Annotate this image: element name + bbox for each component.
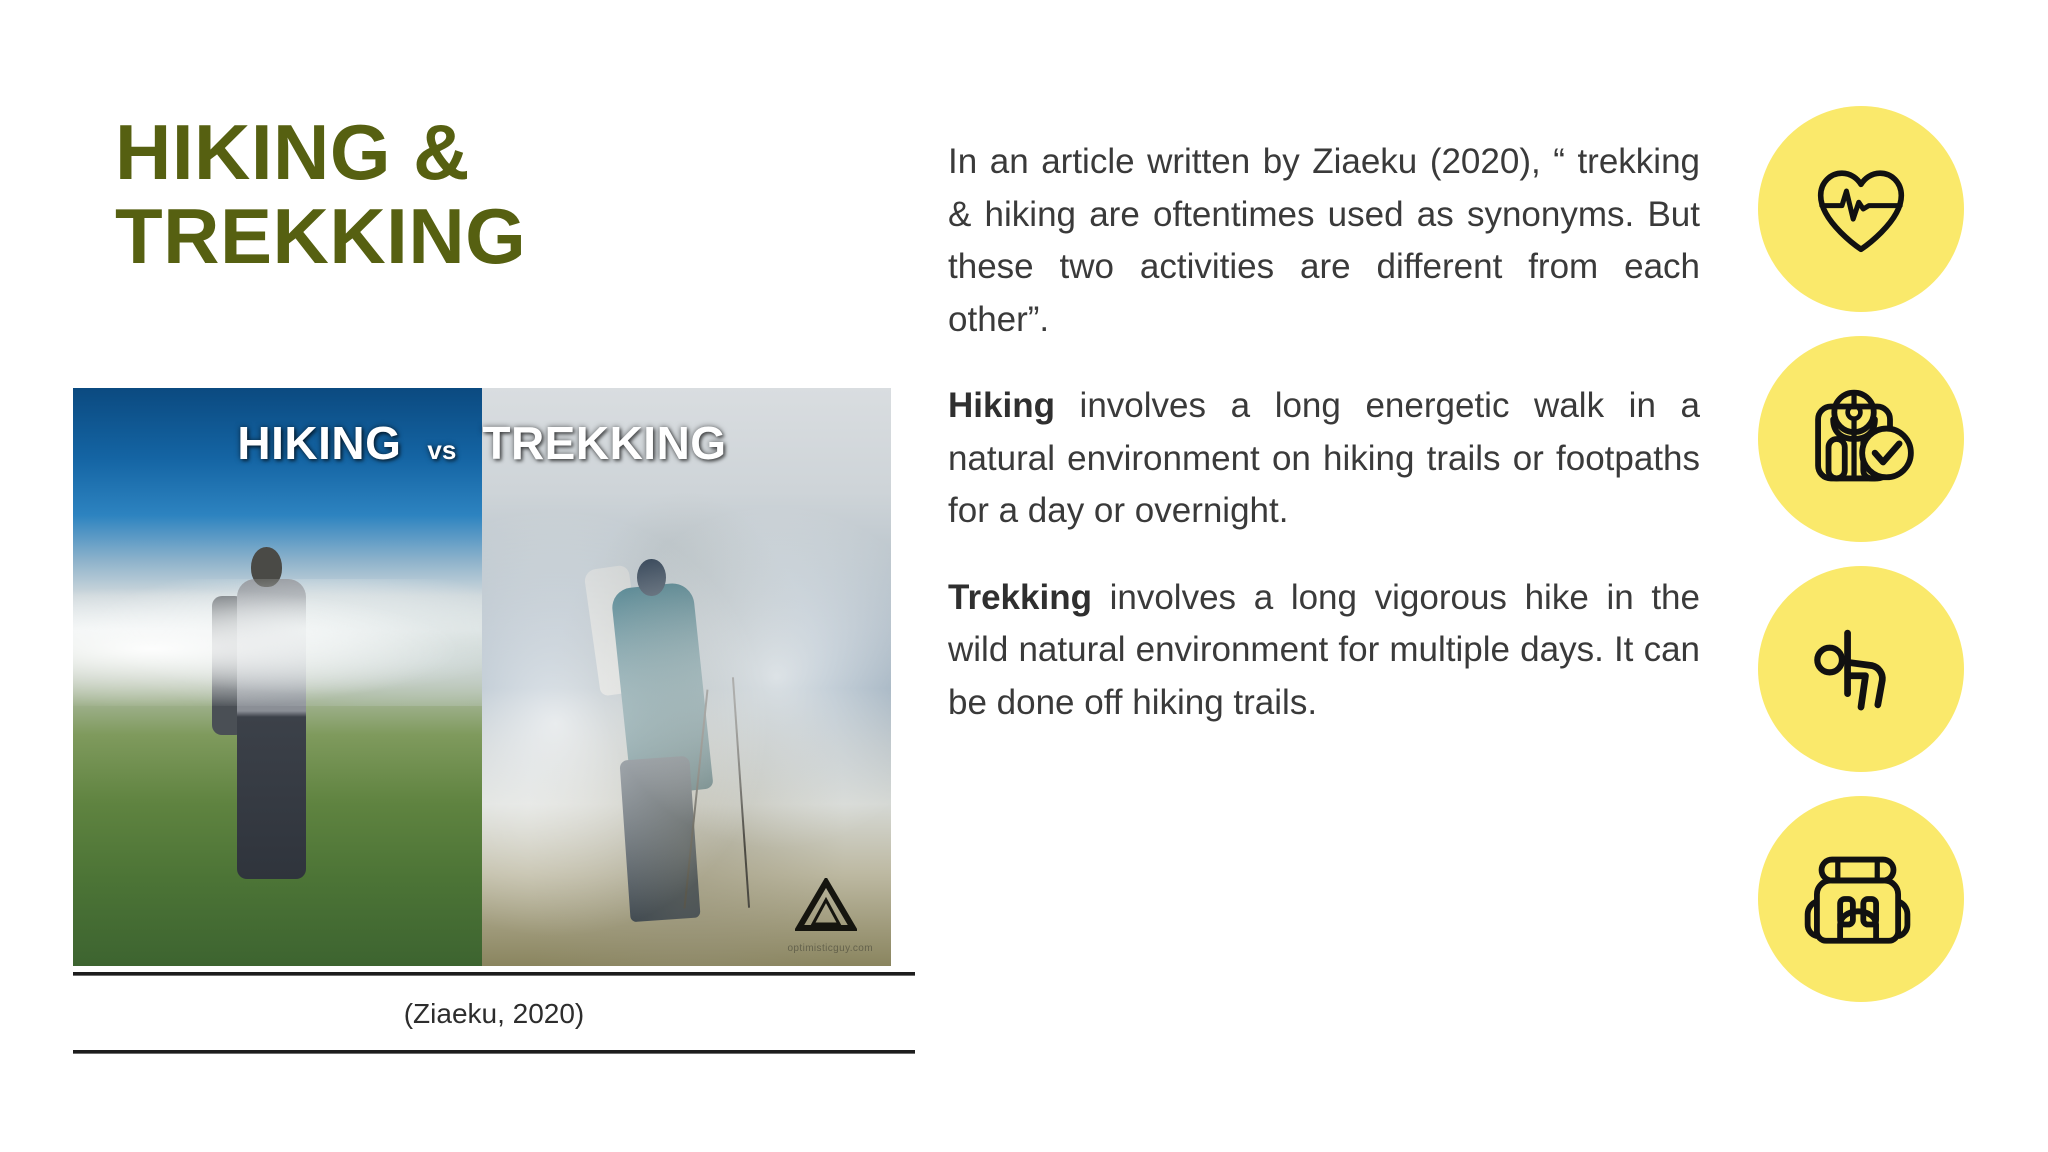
hiker-body-shape	[237, 579, 307, 880]
photo-watermark-url: optimisticguy.com	[787, 943, 873, 954]
trekker-head-shape	[637, 559, 666, 597]
person-stretching-icon	[1805, 613, 1917, 725]
left-column: HIKING & TREKKING	[73, 0, 893, 1152]
trekker-backpack-shape	[584, 565, 646, 697]
paragraph-hiking-lead: Hiking	[948, 386, 1055, 425]
hiking-vs-trekking-photo: HIKING vs TREKKING optimisticguy.com	[73, 388, 891, 966]
paragraph-intro-text: In an article written by Ziaeku (2020), …	[948, 142, 1700, 339]
photo-caption: (Ziaeku, 2020)	[73, 976, 915, 1050]
photo-half-trekking	[482, 388, 891, 966]
trekker-legs-shape	[620, 756, 701, 922]
trekker-body-shape	[610, 581, 713, 796]
paragraph-intro: In an article written by Ziaeku (2020), …	[948, 136, 1700, 346]
icon-rail	[1752, 106, 1982, 1046]
trekking-pole-right	[732, 677, 750, 908]
title-line-1: HIKING &	[115, 110, 875, 194]
paragraph-hiking-text: involves a long energetic walk in a natu…	[948, 386, 1700, 530]
photo-halves	[73, 388, 891, 966]
body-text-column: In an article written by Ziaeku (2020), …	[948, 136, 1700, 729]
photo-caption-band: (Ziaeku, 2020)	[73, 972, 915, 1054]
icon-bubble-weight-scale-check[interactable]	[1758, 336, 1964, 542]
caption-rule-bottom	[73, 1050, 915, 1054]
photo-half-hiking	[73, 388, 482, 966]
hiker-head-shape	[251, 547, 282, 587]
trekking-pole-left	[683, 689, 708, 908]
weight-scale-check-icon	[1803, 381, 1919, 497]
paragraph-trekking: Trekking involves a long vigorous hike i…	[948, 572, 1700, 730]
page-title: HIKING & TREKKING	[115, 110, 875, 278]
icon-bubble-person-stretching[interactable]	[1758, 566, 1964, 772]
paragraph-hiking: Hiking involves a long energetic walk in…	[948, 380, 1700, 538]
hiking-backpack-icon	[1803, 841, 1919, 957]
icon-bubble-heart-pulse[interactable]	[1758, 106, 1964, 312]
heart-pulse-icon	[1805, 153, 1917, 265]
slide-root: HIKING & TREKKING	[0, 0, 2048, 1152]
paragraph-trekking-lead: Trekking	[948, 578, 1092, 617]
title-line-2: TREKKING	[115, 194, 875, 278]
icon-bubble-hiking-backpack[interactable]	[1758, 796, 1964, 1002]
